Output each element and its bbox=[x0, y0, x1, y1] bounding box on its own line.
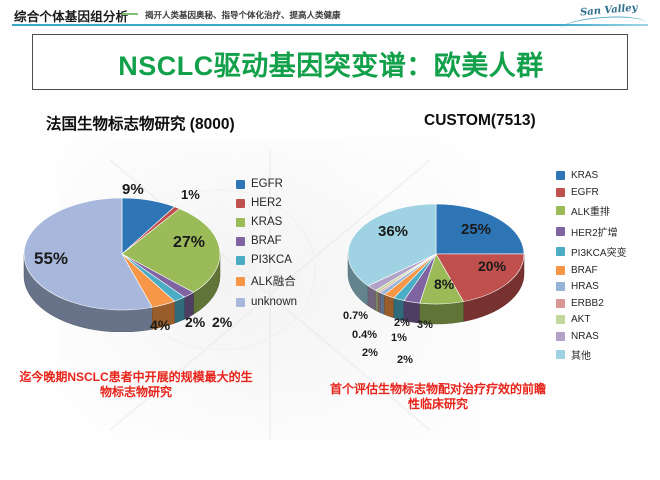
pie-percent-label: 0.4% bbox=[352, 330, 377, 341]
left-legend-item[interactable]: ALK融合 bbox=[236, 273, 297, 289]
slide-canvas: 综合个体基因组分析 揭开人类基因奥秘、指导个体化治疗、提高人类健康 San Va… bbox=[0, 0, 660, 480]
legend-swatch-icon bbox=[556, 206, 565, 215]
pie-percent-label: 9% bbox=[122, 182, 144, 197]
legend-label: KRAS bbox=[251, 216, 282, 228]
right-legend-item[interactable]: 其他 bbox=[556, 347, 627, 362]
legend-swatch-icon bbox=[556, 188, 565, 197]
legend-label: KRAS bbox=[571, 170, 598, 181]
right-legend-item[interactable]: HRAS bbox=[556, 281, 627, 292]
pie-percent-label: 2% bbox=[397, 355, 413, 366]
right-legend-item[interactable]: EGFR bbox=[556, 187, 627, 198]
left-legend-item[interactable]: HER2 bbox=[236, 197, 297, 209]
legend-label: ALK重排 bbox=[571, 203, 610, 218]
brand-swoosh-icon bbox=[560, 14, 647, 31]
right-legend-item[interactable]: NRAS bbox=[556, 331, 627, 342]
pie-percent-label: 8% bbox=[434, 277, 454, 291]
legend-swatch-icon bbox=[236, 237, 245, 246]
legend-label: unknown bbox=[251, 296, 297, 308]
legend-swatch-icon bbox=[236, 298, 245, 307]
legend-swatch-icon bbox=[556, 227, 565, 236]
pie-percent-label: 2% bbox=[185, 315, 205, 329]
pie-percent-label: 3% bbox=[417, 320, 433, 331]
header-divider bbox=[12, 24, 648, 26]
slide-header: 综合个体基因组分析 揭开人类基因奥秘、指导个体化治疗、提高人类健康 San Va… bbox=[0, 0, 660, 30]
left-pie-legend[interactable]: EGFRHER2KRASBRAFPI3KCAALK融合unknown bbox=[236, 178, 297, 315]
pie-percent-label: 2% bbox=[362, 348, 378, 359]
header-subtitle: 揭开人类基因奥秘、指导个体化治疗、提高人类健康 bbox=[145, 9, 341, 21]
legend-swatch-icon bbox=[556, 282, 565, 291]
left-legend-item[interactable]: EGFR bbox=[236, 178, 297, 190]
right-pie-legend[interactable]: KRASEGFRALK重排HER2扩增PI3KCA突变BRAFHRASERBB2… bbox=[556, 170, 627, 368]
left-legend-item[interactable]: PI3KCA bbox=[236, 254, 297, 266]
right-legend-item[interactable]: BRAF bbox=[556, 265, 627, 276]
legend-label: BRAF bbox=[251, 235, 282, 247]
pie-percent-label: 2% bbox=[212, 315, 232, 329]
right-chart-heading: CUSTOM(7513) bbox=[424, 112, 536, 130]
legend-label: HER2扩增 bbox=[571, 224, 618, 239]
legend-label: ALK融合 bbox=[251, 273, 296, 289]
slide-footer: 圣谷同创 北京圣谷同创科技发展有限公司 BEIJING SAN VALLEY B… bbox=[0, 428, 660, 480]
right-legend-item[interactable]: PI3KCA突变 bbox=[556, 244, 627, 259]
pie-percent-label: 2% bbox=[394, 318, 410, 329]
pie-percent-label: 1% bbox=[391, 333, 407, 344]
pie-percent-label: 1% bbox=[181, 188, 200, 201]
left-chart-heading: 法国生物标志物研究 (8000) bbox=[46, 112, 235, 134]
legend-label: EGFR bbox=[251, 178, 283, 190]
legend-label: NRAS bbox=[571, 331, 599, 342]
legend-swatch-icon bbox=[556, 332, 565, 341]
pie-percent-label: 4% bbox=[150, 318, 170, 332]
legend-swatch-icon bbox=[556, 350, 565, 359]
right-pie-chart[interactable] bbox=[344, 196, 540, 326]
pie-percent-label: 36% bbox=[378, 224, 408, 239]
legend-label: HRAS bbox=[571, 281, 599, 292]
left-legend-item[interactable]: BRAF bbox=[236, 235, 297, 247]
legend-label: HER2 bbox=[251, 197, 282, 209]
legend-label: EGFR bbox=[571, 187, 599, 198]
legend-label: BRAF bbox=[571, 265, 598, 276]
pie-percent-label: 20% bbox=[478, 259, 506, 273]
header-dash-icon bbox=[122, 13, 138, 15]
pie-percent-label: 25% bbox=[461, 222, 491, 237]
right-legend-item[interactable]: ERBB2 bbox=[556, 298, 627, 309]
legend-label: PI3KCA bbox=[251, 254, 292, 266]
right-pie-svg bbox=[344, 196, 540, 326]
pie-percent-label: 0.7% bbox=[343, 311, 368, 322]
legend-swatch-icon bbox=[236, 180, 245, 189]
legend-swatch-icon bbox=[236, 277, 245, 286]
right-legend-item[interactable]: KRAS bbox=[556, 170, 627, 181]
legend-swatch-icon bbox=[236, 256, 245, 265]
legend-swatch-icon bbox=[236, 199, 245, 208]
left-caption: 迄今晚期NSCLC患者中开展的规模最大的生物标志物研究 bbox=[18, 370, 254, 400]
legend-swatch-icon bbox=[556, 247, 565, 256]
legend-label: AKT bbox=[571, 314, 590, 325]
legend-swatch-icon bbox=[556, 171, 565, 180]
right-caption: 首个评估生物标志物配对治疗疗效的前瞻性临床研究 bbox=[330, 382, 546, 412]
legend-swatch-icon bbox=[556, 315, 565, 324]
legend-swatch-icon bbox=[556, 299, 565, 308]
title-box: NSCLC驱动基因突变谱：欧美人群 bbox=[32, 34, 628, 90]
header-title: 综合个体基因组分析 bbox=[14, 6, 128, 25]
page-title: NSCLC驱动基因突变谱：欧美人群 bbox=[33, 35, 629, 91]
right-legend-item[interactable]: AKT bbox=[556, 314, 627, 325]
legend-label: 其他 bbox=[571, 347, 591, 362]
right-legend-item[interactable]: HER2扩增 bbox=[556, 224, 627, 239]
pie-percent-label: 55% bbox=[34, 250, 68, 267]
legend-label: PI3KCA突变 bbox=[571, 244, 627, 259]
right-legend-item[interactable]: ALK重排 bbox=[556, 203, 627, 218]
left-legend-item[interactable]: unknown bbox=[236, 296, 297, 308]
pie-percent-label: 27% bbox=[173, 235, 205, 251]
left-legend-item[interactable]: KRAS bbox=[236, 216, 297, 228]
legend-swatch-icon bbox=[236, 218, 245, 227]
legend-swatch-icon bbox=[556, 266, 565, 275]
legend-label: ERBB2 bbox=[571, 298, 604, 309]
